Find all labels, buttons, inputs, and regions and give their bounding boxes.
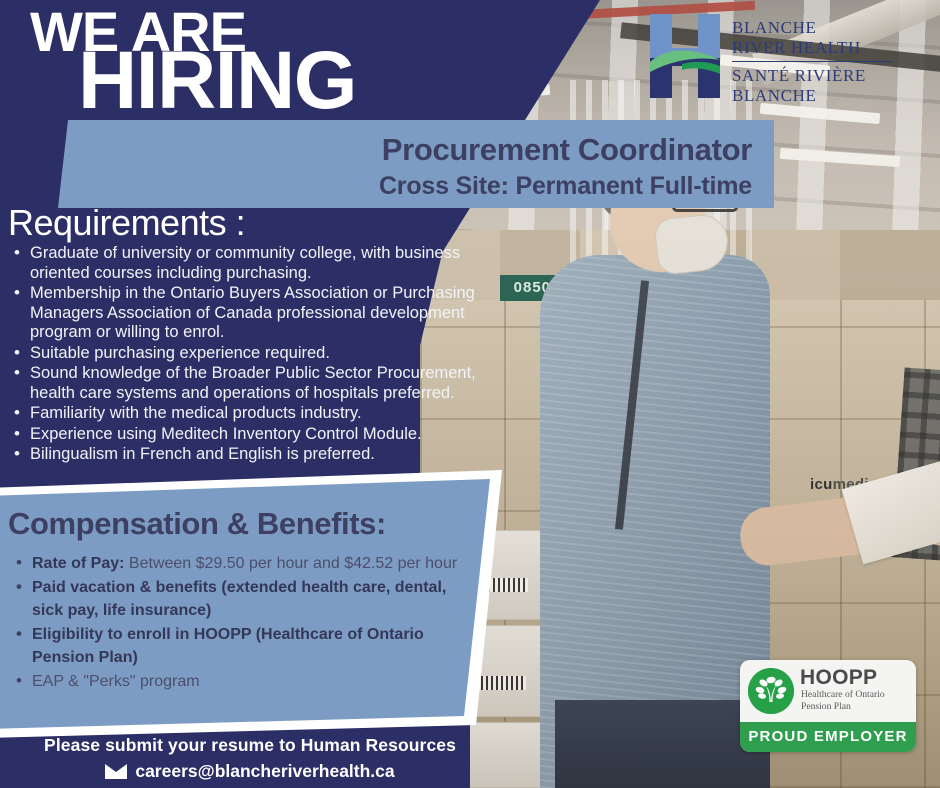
list-item: Rate of Pay: Between $29.50 per hour and… xyxy=(8,552,478,575)
footer-instruction: Please submit your resume to Human Resou… xyxy=(0,735,500,756)
logo-divider xyxy=(732,61,892,62)
hoopp-wordmark: HOOPP xyxy=(800,666,877,690)
footer-email-row: careers@blancheriverhealth.ca xyxy=(0,761,500,782)
blanche-river-health-h-monogram-icon xyxy=(648,12,722,100)
requirements-section: Requirements : Graduate of university or… xyxy=(8,204,518,466)
job-posting-poster: 08500 icumedical WE ARE HIRING xyxy=(0,0,940,788)
hoopp-subtitle-line2: Pension Plan xyxy=(801,701,885,713)
logo-line-blanche: BLANCHE xyxy=(732,18,932,38)
headline-line2: HIRING xyxy=(78,40,356,122)
list-item: Eligibility to enroll in HOOPP (Healthca… xyxy=(8,623,478,669)
compensation-heading: Compensation & Benefits: xyxy=(8,506,386,542)
list-item: Graduate of university or community coll… xyxy=(8,244,518,283)
list-item: EAP & "Perks" program xyxy=(8,670,478,693)
job-title: Procurement Coordinator xyxy=(58,132,752,168)
rate-of-pay-label: Rate of Pay: xyxy=(32,555,124,572)
hoopp-tree-icon xyxy=(748,668,794,714)
footer-contact: Please submit your resume to Human Resou… xyxy=(0,735,500,782)
hoopp-proud-employer-badge: HOOPP Healthcare of Ontario Pension Plan… xyxy=(740,660,916,752)
rate-of-pay-value: Between $29.50 per hour and $42.52 per h… xyxy=(124,555,457,572)
logo-wordmark: BLANCHE RIVER HEALTH SANTÉ RIVIÈRE BLANC… xyxy=(732,18,932,106)
job-detail: Cross Site: Permanent Full-time xyxy=(58,172,752,201)
list-item: Membership in the Ontario Buyers Associa… xyxy=(8,284,518,343)
compensation-section: Compensation & Benefits: Rate of Pay: Be… xyxy=(0,470,516,740)
requirements-list: Graduate of university or community coll… xyxy=(8,244,518,465)
hoopp-subtitle: Healthcare of Ontario Pension Plan xyxy=(801,689,885,712)
proud-employer-banner: PROUD EMPLOYER xyxy=(740,722,916,752)
list-item: Paid vacation & benefits (extended healt… xyxy=(8,576,478,622)
list-item: Bilingualism in French and English is pr… xyxy=(8,445,518,465)
requirements-heading: Requirements : xyxy=(8,204,518,242)
logo-line-river-health: RIVER HEALTH xyxy=(732,38,932,58)
envelope-icon xyxy=(105,764,127,779)
compensation-list: Rate of Pay: Between $29.50 per hour and… xyxy=(8,552,478,694)
job-title-banner: Procurement Coordinator Cross Site: Perm… xyxy=(58,120,774,208)
list-item: Sound knowledge of the Broader Public Se… xyxy=(8,364,518,403)
contact-email[interactable]: careers@blancheriverhealth.ca xyxy=(135,761,394,782)
list-item: Experience using Meditech Inventory Cont… xyxy=(8,425,518,445)
logo-line-sante-riviere: SANTÉ RIVIÈRE xyxy=(732,66,932,86)
hoopp-subtitle-line1: Healthcare of Ontario xyxy=(801,689,885,701)
hoopp-badge-top: HOOPP Healthcare of Ontario Pension Plan xyxy=(740,660,916,722)
logo-line-blanche-fr: BLANCHE xyxy=(732,86,932,106)
compensation-panel: Compensation & Benefits: Rate of Pay: Be… xyxy=(0,470,516,740)
list-item: Suitable purchasing experience required. xyxy=(8,344,518,364)
organization-logo: BLANCHE RIVER HEALTH SANTÉ RIVIÈRE BLANC… xyxy=(648,10,938,106)
list-item: Familiarity with the medical products in… xyxy=(8,404,518,424)
